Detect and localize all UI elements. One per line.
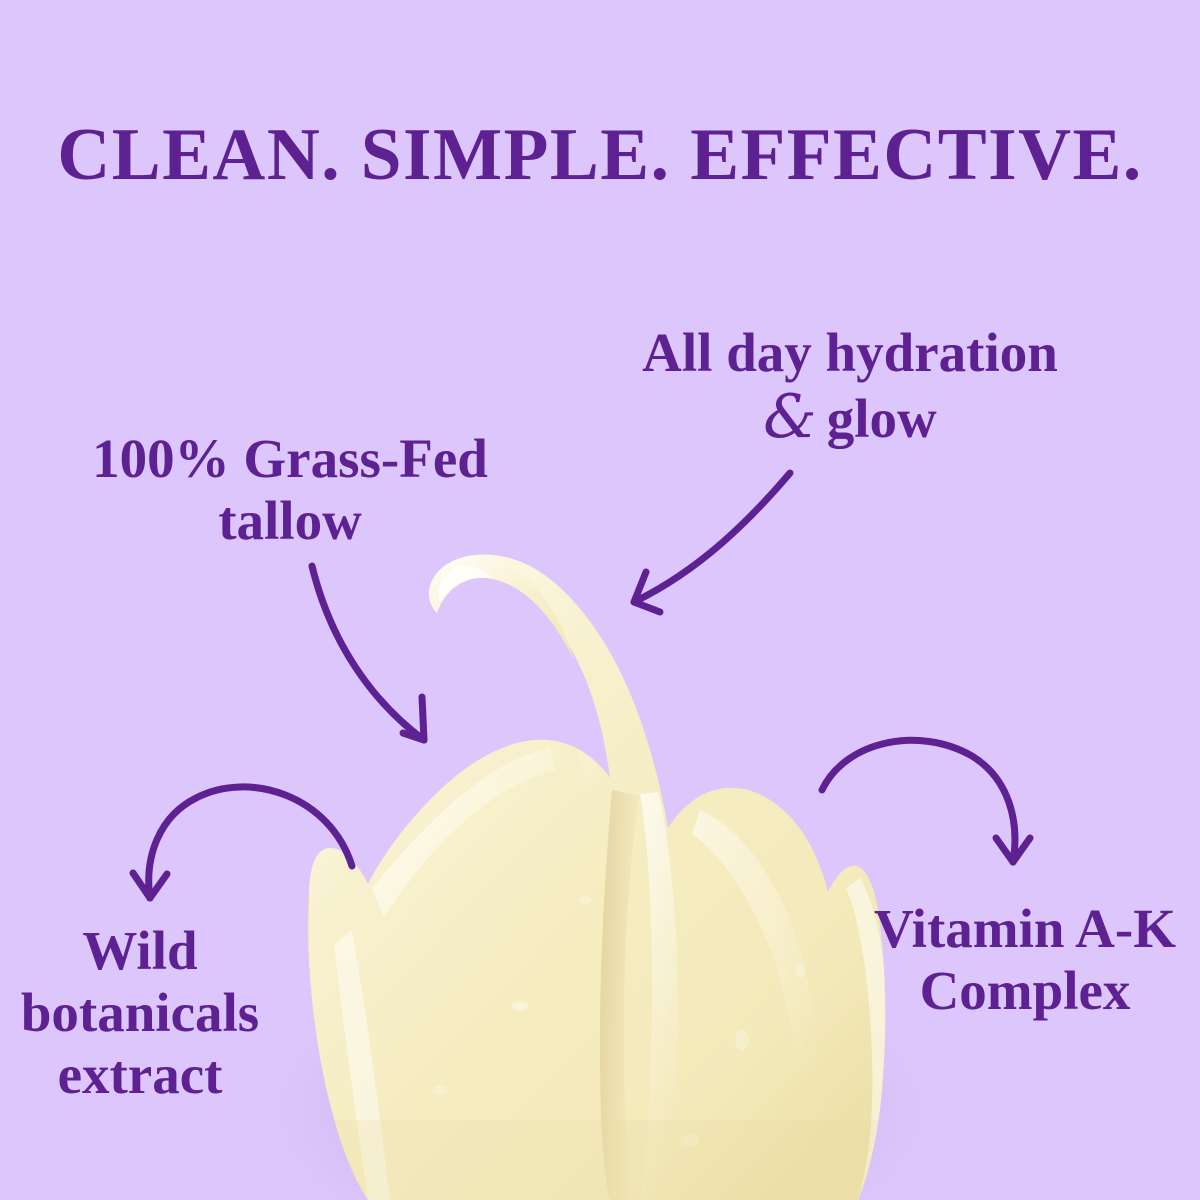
callout-botanicals-line2: botanicals (0, 982, 300, 1044)
callout-vitamin: Vitamin A-K Complex (855, 898, 1195, 1022)
callout-botanicals-line1: Wild (0, 920, 300, 982)
callout-grass-fed-line2: tallow (40, 490, 540, 552)
callout-hydration-line2-wrap: &glow (585, 384, 1115, 452)
promo-graphic: CLEAN. SIMPLE. EFFECTIVE. (0, 0, 1200, 1200)
callout-botanicals-line3: extract (0, 1044, 300, 1106)
callout-hydration: All day hydration &glow (585, 322, 1115, 452)
callout-hydration-line2: glow (827, 388, 937, 449)
callout-botanicals: Wild botanicals extract (0, 920, 300, 1106)
callout-hydration-line1: All day hydration (585, 322, 1115, 384)
callout-vitamin-line2: Complex (855, 960, 1195, 1022)
callout-vitamin-line1: Vitamin A-K (855, 898, 1195, 960)
callout-grass-fed: 100% Grass-Fed tallow (40, 428, 540, 552)
callout-grass-fed-line1: 100% Grass-Fed (40, 428, 540, 490)
ampersand-glyph: & (763, 382, 826, 452)
